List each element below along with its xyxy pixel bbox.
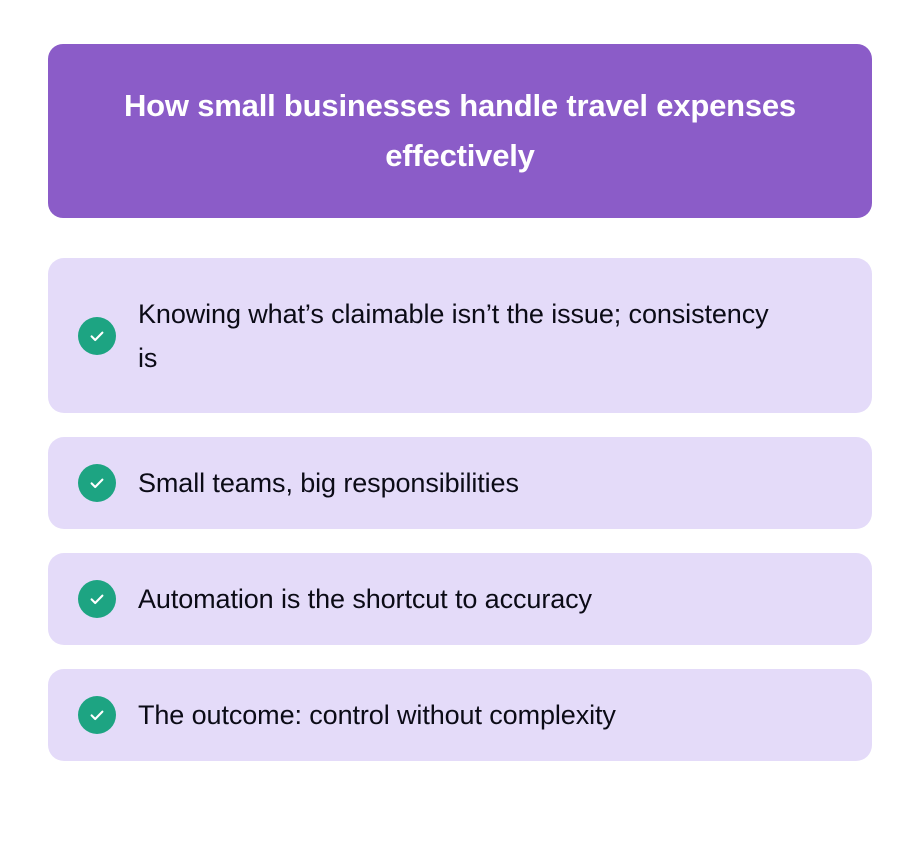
- list-item: Automation is the shortcut to accuracy: [48, 553, 872, 645]
- list-item-label: Small teams, big responsibilities: [138, 461, 519, 505]
- list-item: The outcome: control without complexity: [48, 669, 872, 761]
- list-item: Small teams, big responsibilities: [48, 437, 872, 529]
- list-item-label: The outcome: control without complexity: [138, 693, 616, 737]
- checklist: Knowing what’s claimable isn’t the issue…: [48, 258, 872, 761]
- check-circle-icon: [78, 464, 116, 502]
- list-item-label: Knowing what’s claimable isn’t the issue…: [138, 292, 778, 380]
- check-circle-icon: [78, 696, 116, 734]
- page-title: How small businesses handle travel expen…: [115, 81, 805, 181]
- infographic-container: How small businesses handle travel expen…: [0, 0, 920, 856]
- list-item-label: Automation is the shortcut to accuracy: [138, 577, 592, 621]
- list-item: Knowing what’s claimable isn’t the issue…: [48, 258, 872, 413]
- check-circle-icon: [78, 580, 116, 618]
- check-circle-icon: [78, 317, 116, 355]
- header-banner: How small businesses handle travel expen…: [48, 44, 872, 218]
